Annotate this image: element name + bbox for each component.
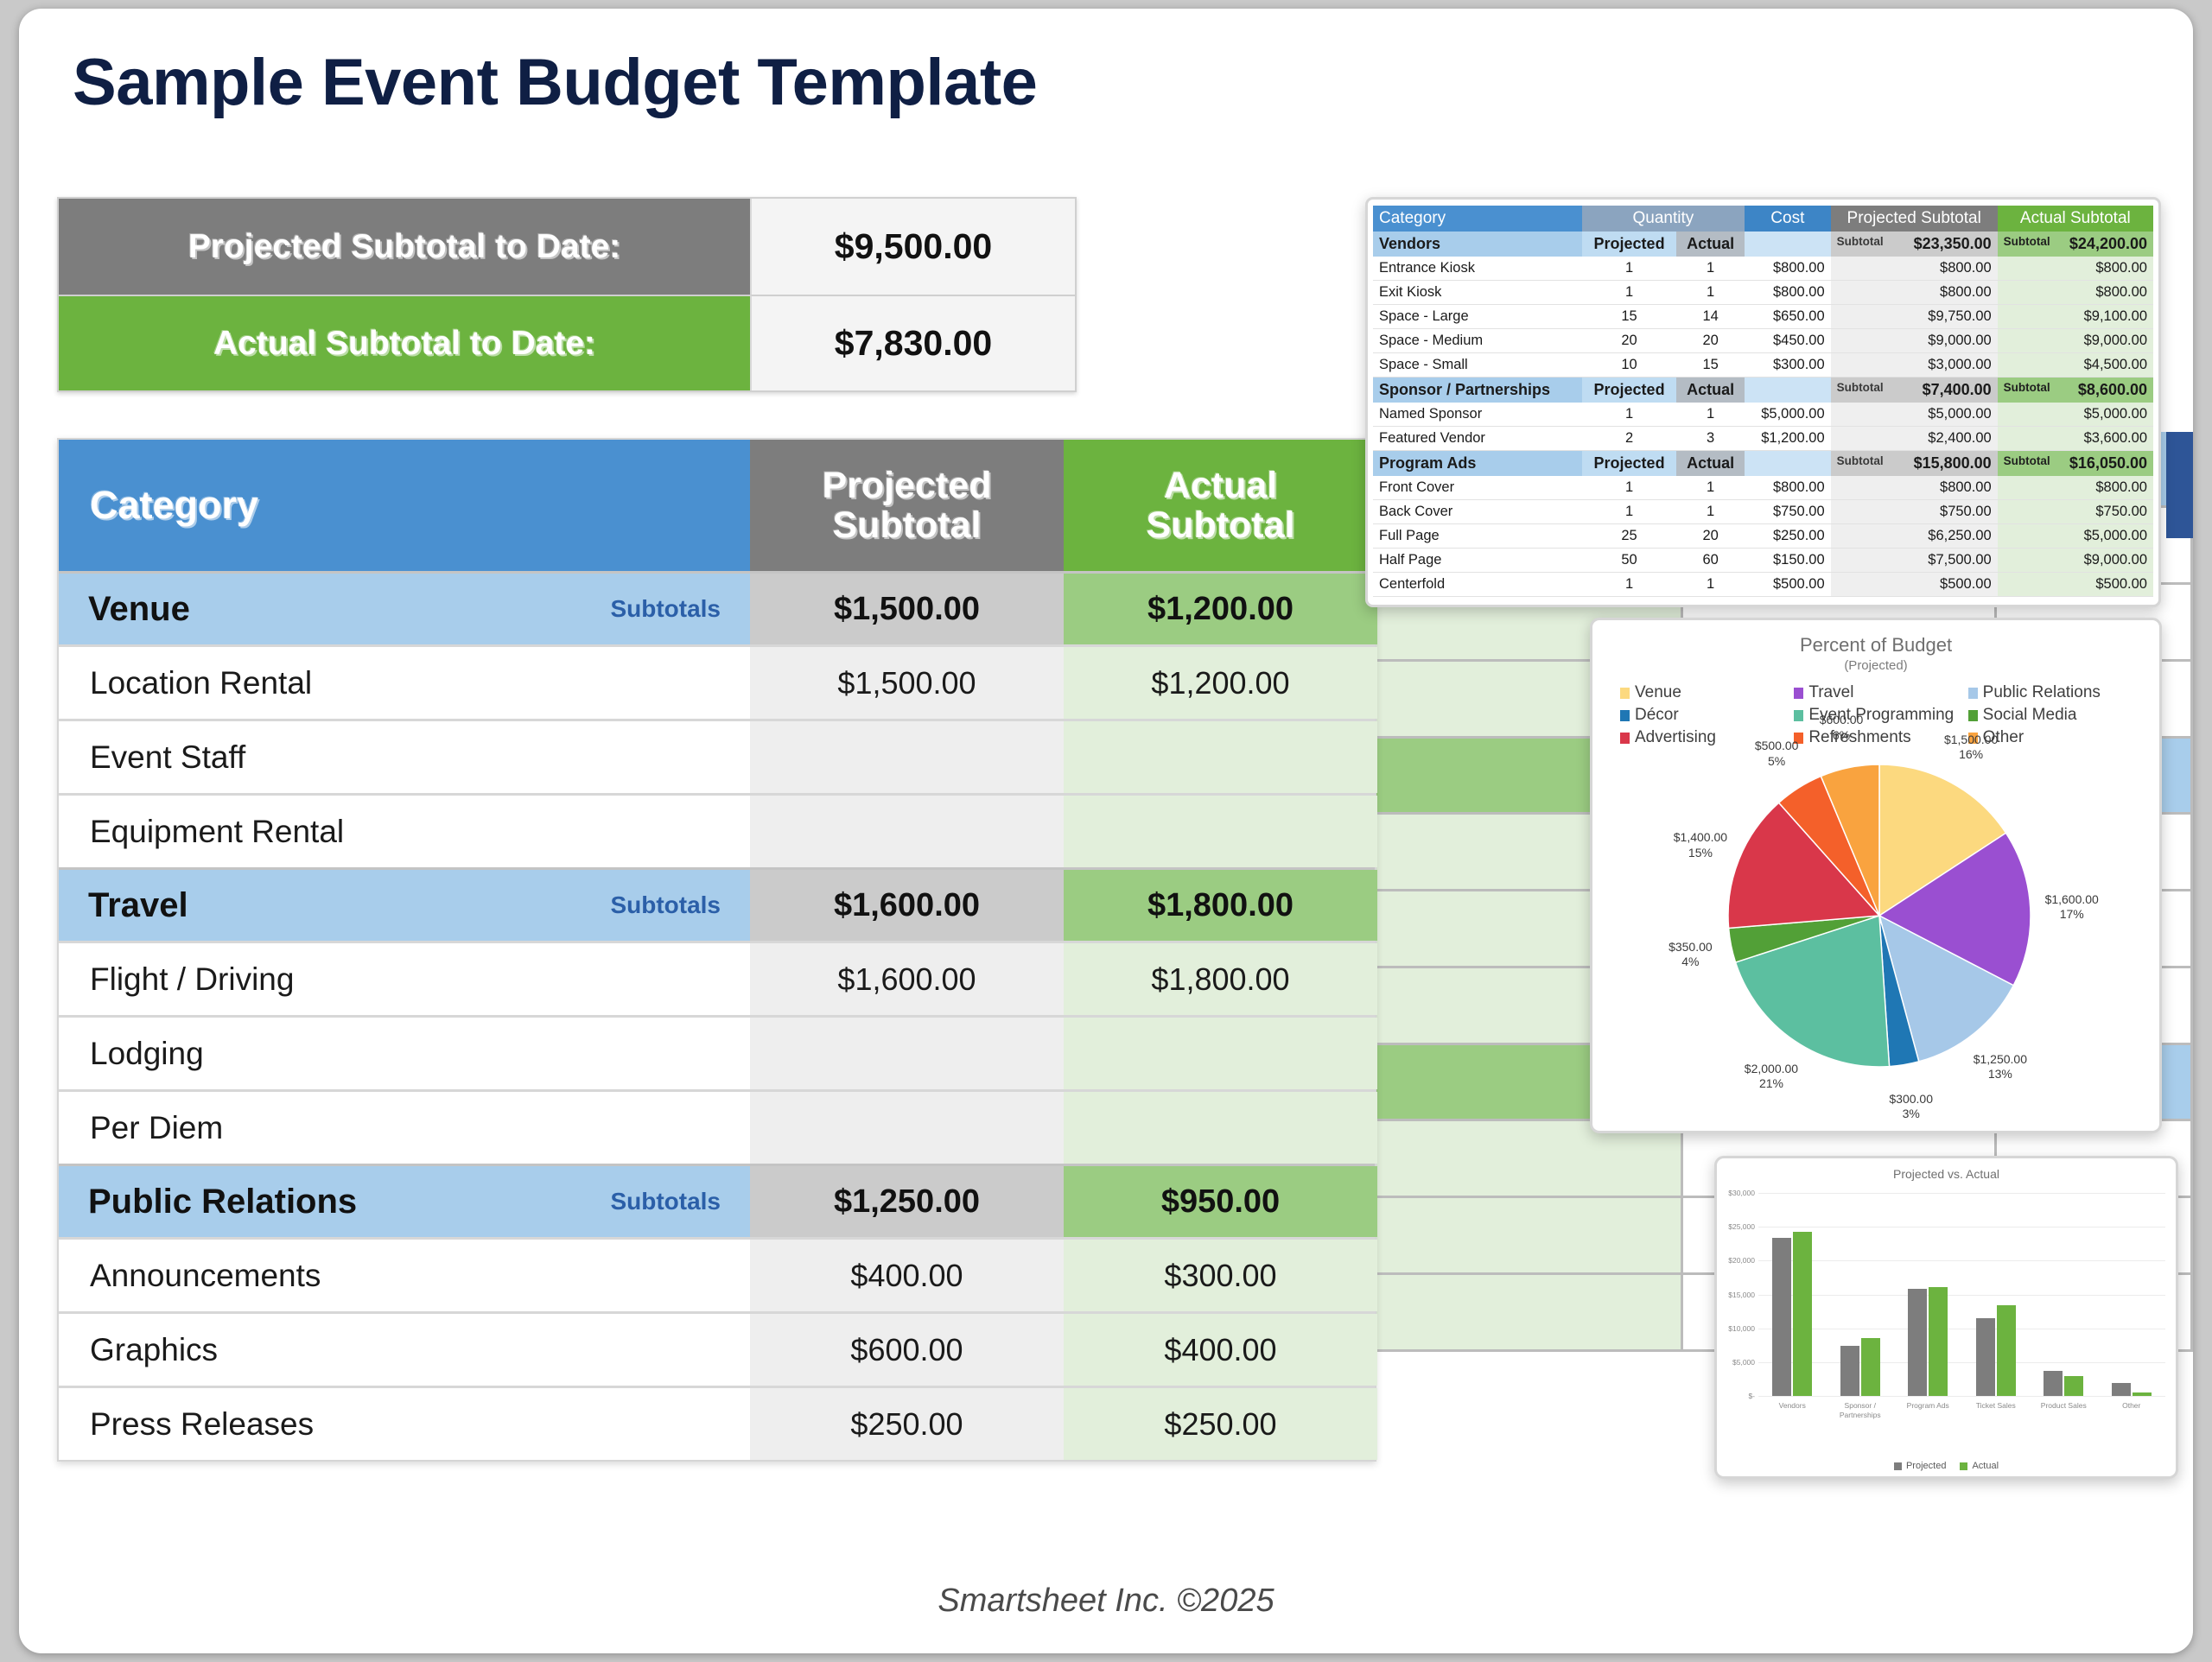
sheet-item-name: Exit Kiosk — [1373, 281, 1582, 305]
item-projected-cell — [750, 721, 1064, 793]
item-actual-value: $1,200.00 — [1151, 665, 1289, 701]
spreadsheet-item-row: Full Page2520$250.00$6,250.00$5,000.00 — [1373, 524, 2153, 549]
gridline — [1758, 1362, 2165, 1363]
pie-label-value: $1,500.00 — [1944, 733, 1998, 746]
table-row-item: Per Diem — [59, 1089, 1375, 1164]
pie-data-label: $300.003% — [1872, 1092, 1950, 1122]
sheet-header-quantity: Quantity — [1582, 206, 1745, 232]
sheet-header-category: Category — [1373, 206, 1582, 232]
sheet-cost: $650.00 — [1745, 305, 1831, 329]
item-name-cell: Lodging — [59, 1018, 750, 1089]
bar-chart-legend: ProjectedActual — [1717, 1461, 2176, 1471]
item-projected-value: $1,500.00 — [837, 665, 976, 701]
pie-label-value: $1,250.00 — [1974, 1052, 2027, 1066]
subtotal-category-name: Venue — [88, 590, 190, 629]
sheet-item-name: Back Cover — [1373, 500, 1582, 524]
sheet-actual-subtotal: $4,500.00 — [1998, 353, 2153, 377]
sheet-qty-projected: 1 — [1582, 573, 1677, 597]
item-projected-cell: $600.00 — [750, 1314, 1064, 1386]
table-row-item: Flight / Driving$1,600.00$1,800.00 — [59, 941, 1375, 1015]
spreadsheet-item-row: Space - Small1015$300.00$3,000.00$4,500.… — [1373, 353, 2153, 377]
subtotals-label: Subtotals — [610, 595, 721, 623]
item-name: Event Staff — [90, 739, 245, 776]
subtotal-actual-cell: $1,200.00 — [1064, 574, 1377, 644]
gridline — [1758, 1295, 2165, 1296]
sheet-item-name: Entrance Kiosk — [1373, 257, 1582, 281]
bar-actual — [1997, 1305, 2016, 1396]
pie-data-label: $1,500.0016% — [1932, 733, 2010, 763]
gridline — [1758, 1396, 2165, 1397]
subtotal-category-name: Public Relations — [88, 1183, 357, 1221]
item-actual-cell — [1064, 1018, 1377, 1089]
sheet-projected-subtotal: $9,000.00 — [1831, 329, 1998, 353]
bar-group — [2038, 1193, 2088, 1396]
sheet-cost: $300.00 — [1745, 353, 1831, 377]
group-actual-header: Actual — [1676, 377, 1745, 403]
sheet-qty-projected: 15 — [1582, 305, 1677, 329]
group-projected-subtotal: Subtotal$15,800.00 — [1831, 451, 1998, 477]
sheet-qty-actual: 60 — [1676, 549, 1745, 573]
group-actual-header: Actual — [1676, 451, 1745, 477]
sheet-item-name: Centerfold — [1373, 573, 1582, 597]
legend-item: Venue — [1620, 683, 1789, 702]
sheet-qty-projected: 1 — [1582, 403, 1677, 427]
group-projected-header: Projected — [1582, 232, 1677, 257]
accent-block — [2166, 432, 2193, 538]
sheet-projected-subtotal: $750.00 — [1831, 500, 1998, 524]
item-name-cell: Per Diem — [59, 1092, 750, 1164]
table-row-item: Equipment Rental — [59, 793, 1375, 867]
sheet-item-name: Full Page — [1373, 524, 1582, 549]
sheet-qty-projected: 25 — [1582, 524, 1677, 549]
subtotal-word: Subtotal — [1837, 454, 1884, 467]
item-actual-cell — [1064, 796, 1377, 867]
sheet-cost: $5,000.00 — [1745, 403, 1831, 427]
sheet-projected-subtotal: $6,250.00 — [1831, 524, 1998, 549]
item-name-cell: Equipment Rental — [59, 796, 750, 867]
pie-label-value: $1,600.00 — [2045, 892, 2099, 906]
subtotal-word: Subtotal — [2004, 381, 2050, 394]
item-name: Press Releases — [90, 1406, 314, 1443]
sheet-projected-subtotal: $2,400.00 — [1831, 427, 1998, 451]
pie-data-label: $350.004% — [1651, 940, 1729, 970]
sheet-cost: $750.00 — [1745, 500, 1831, 524]
item-projected-cell — [750, 796, 1064, 867]
pie-chart-subtitle: (Projected) — [1592, 658, 2159, 673]
summary-row-actual: Actual Subtotal to Date: $7,830.00 — [59, 295, 1075, 390]
sheet-item-name: Named Sponsor — [1373, 403, 1582, 427]
bar-actual — [1793, 1232, 1812, 1396]
sheet-qty-actual: 1 — [1676, 476, 1745, 500]
sheet-qty-projected: 2 — [1582, 427, 1677, 451]
budget-table: Category ProjectedSubtotal ActualSubtota… — [57, 438, 1376, 1462]
y-axis-tick-label: $5,000 — [1717, 1358, 1755, 1367]
subtotal-projected-value: $1,500.00 — [834, 591, 980, 628]
table-row-item: Event Staff — [59, 719, 1375, 793]
subtotal-category-cell: TravelSubtotals — [59, 870, 750, 941]
subtotal-word: Subtotal — [1837, 381, 1884, 394]
x-axis-tick-label: Other — [2097, 1401, 2166, 1411]
legend-label: Advertising — [1635, 728, 1716, 747]
sheet-projected-subtotal: $9,750.00 — [1831, 305, 1998, 329]
pie-chart-title: Percent of Budget — [1592, 634, 2159, 657]
spreadsheet-item-row: Front Cover11$800.00$800.00$800.00 — [1373, 476, 2153, 500]
pie-label-percent: 13% — [1988, 1067, 2012, 1081]
legend-label: Projected — [1906, 1461, 1946, 1471]
sheet-qty-projected: 10 — [1582, 353, 1677, 377]
detail-spreadsheet-table: Category Quantity Cost Projected Subtota… — [1373, 206, 2153, 597]
group-projected-subtotal: Subtotal$23,350.00 — [1831, 232, 1998, 257]
pie-data-label: $600.006% — [1802, 713, 1880, 743]
actual-subtotal-label: Actual Subtotal to Date: — [59, 295, 750, 390]
legend-swatch-icon — [1960, 1462, 1967, 1470]
bar-projected — [1976, 1318, 1995, 1396]
y-axis-tick-label: $15,000 — [1717, 1291, 1755, 1299]
bar-projected — [2112, 1383, 2131, 1396]
sheet-projected-subtotal: $500.00 — [1831, 573, 1998, 597]
bar-group — [2107, 1193, 2157, 1396]
sheet-qty-projected: 1 — [1582, 257, 1677, 281]
spreadsheet-group-row: Sponsor / PartnershipsProjectedActualSub… — [1373, 377, 2153, 403]
gridline — [1758, 1227, 2165, 1227]
item-actual-cell — [1064, 721, 1377, 793]
group-actual-header: Actual — [1676, 232, 1745, 257]
background-cell — [1370, 1198, 1683, 1275]
legend-item: Social Media — [1968, 706, 2137, 725]
legend-item: Travel — [1794, 683, 1962, 702]
y-axis-tick-label: $30,000 — [1717, 1189, 1755, 1197]
table-row-subtotal: TravelSubtotals$1,600.00$1,800.00 — [59, 867, 1375, 941]
item-name-cell: Press Releases — [59, 1388, 750, 1460]
y-axis-tick-label: $- — [1717, 1392, 1755, 1400]
sheet-item-name: Space - Small — [1373, 353, 1582, 377]
item-name-cell: Flight / Driving — [59, 943, 750, 1015]
sheet-actual-subtotal: $800.00 — [1998, 257, 2153, 281]
header-cell-projected: ProjectedSubtotal — [750, 440, 1064, 571]
x-axis-tick-label: Product Sales — [2029, 1401, 2098, 1411]
legend-label: Social Media — [1983, 706, 2077, 725]
sheet-cost: $500.00 — [1745, 573, 1831, 597]
pie-data-label: $1,250.0013% — [1961, 1052, 2039, 1082]
pie-label-value: $350.00 — [1669, 940, 1713, 954]
table-row-item: Graphics$600.00$400.00 — [59, 1311, 1375, 1386]
item-name-cell: Announcements — [59, 1240, 750, 1311]
bar-projected — [1908, 1289, 1927, 1396]
pie-data-label: $2,000.0021% — [1732, 1062, 1810, 1092]
sheet-actual-subtotal: $800.00 — [1998, 281, 2153, 305]
group-projected-subtotal: Subtotal$7,400.00 — [1831, 377, 1998, 403]
gridline — [1758, 1260, 2165, 1261]
page-title: Sample Event Budget Template — [73, 45, 1037, 120]
legend-swatch-icon — [1620, 733, 1630, 744]
sheet-item-name: Front Cover — [1373, 476, 1582, 500]
header-cell-actual: ActualSubtotal — [1064, 440, 1377, 571]
table-row-item: Lodging — [59, 1015, 1375, 1089]
subtotals-label: Subtotals — [610, 1188, 721, 1215]
legend-label: Public Relations — [1983, 683, 2101, 702]
item-projected-cell: $250.00 — [750, 1388, 1064, 1460]
legend-swatch-icon — [1794, 688, 1803, 699]
item-actual-value: $250.00 — [1164, 1406, 1276, 1443]
legend-swatch-icon — [1968, 688, 1978, 699]
item-name: Announcements — [90, 1258, 321, 1294]
header-label-category: Category — [90, 485, 258, 526]
spreadsheet-item-row: Named Sponsor11$5,000.00$5,000.00$5,000.… — [1373, 403, 2153, 427]
sheet-actual-subtotal: $9,100.00 — [1998, 305, 2153, 329]
spreadsheet-group-row: Program AdsProjectedActualSubtotal$15,80… — [1373, 451, 2153, 477]
legend-swatch-icon — [1968, 710, 1978, 721]
item-actual-cell: $1,200.00 — [1064, 647, 1377, 719]
subtotal-word: Subtotal — [2004, 454, 2050, 467]
spreadsheet-body: VendorsProjectedActualSubtotal$23,350.00… — [1373, 232, 2153, 597]
sheet-qty-actual: 15 — [1676, 353, 1745, 377]
item-name: Flight / Driving — [90, 961, 294, 998]
sheet-qty-actual: 1 — [1676, 500, 1745, 524]
legend-item: Décor — [1620, 706, 1789, 725]
item-projected-value: $400.00 — [850, 1258, 963, 1294]
subtotal-category-name: Travel — [88, 886, 188, 925]
group-blank-cell — [1745, 451, 1831, 477]
item-name: Graphics — [90, 1332, 218, 1368]
subtotal-projected-value: $1,600.00 — [834, 887, 980, 924]
item-projected-value: $600.00 — [850, 1332, 963, 1368]
sheet-header-projected-subtotal: Projected Subtotal — [1831, 206, 1998, 232]
pie-label-value: $2,000.00 — [1745, 1062, 1798, 1075]
sheet-projected-subtotal: $800.00 — [1831, 281, 1998, 305]
gridline — [1758, 1193, 2165, 1194]
sheet-projected-subtotal: $800.00 — [1831, 476, 1998, 500]
item-projected-value: $250.00 — [850, 1406, 963, 1443]
item-actual-cell: $250.00 — [1064, 1388, 1377, 1460]
sheet-cost: $250.00 — [1745, 524, 1831, 549]
pie-data-label: $500.005% — [1738, 739, 1815, 769]
background-cell — [1370, 1275, 1683, 1352]
sheet-cost: $450.00 — [1745, 329, 1831, 353]
bar-chart-title: Projected vs. Actual — [1717, 1167, 2176, 1181]
pie-label-value: $500.00 — [1755, 739, 1799, 752]
pie-label-percent: 6% — [1833, 728, 1850, 742]
projected-subtotal-label: Projected Subtotal to Date: — [59, 199, 750, 295]
spreadsheet-group-row: VendorsProjectedActualSubtotal$23,350.00… — [1373, 232, 2153, 257]
bar-projected — [1840, 1346, 1859, 1396]
subtotal-actual-cell: $950.00 — [1064, 1166, 1377, 1237]
group-actual-subtotal: Subtotal$24,200.00 — [1998, 232, 2153, 257]
sheet-item-name: Space - Large — [1373, 305, 1582, 329]
pie-chart-svg — [1728, 756, 2039, 1067]
item-projected-cell: $1,600.00 — [750, 943, 1064, 1015]
bar-actual — [1861, 1338, 1880, 1396]
item-name: Location Rental — [90, 665, 312, 701]
sheet-qty-projected: 50 — [1582, 549, 1677, 573]
subtotal-projected-cell: $1,600.00 — [750, 870, 1064, 941]
spreadsheet-item-row: Entrance Kiosk11$800.00$800.00$800.00 — [1373, 257, 2153, 281]
group-projected-header: Projected — [1582, 451, 1677, 477]
subtotal-projected-value: $1,250.00 — [834, 1183, 980, 1221]
sheet-cost: $800.00 — [1745, 476, 1831, 500]
sheet-projected-subtotal: $7,500.00 — [1831, 549, 1998, 573]
spreadsheet-item-row: Space - Large1514$650.00$9,750.00$9,100.… — [1373, 305, 2153, 329]
sheet-item-name: Space - Medium — [1373, 329, 1582, 353]
sheet-actual-subtotal: $750.00 — [1998, 500, 2153, 524]
bar-group — [1767, 1193, 1817, 1396]
sheet-projected-subtotal: $3,000.00 — [1831, 353, 1998, 377]
sheet-actual-subtotal: $800.00 — [1998, 476, 2153, 500]
bar-group — [1971, 1193, 2021, 1396]
header-cell-category: Category — [59, 440, 750, 571]
legend-swatch-icon — [1620, 710, 1630, 721]
spreadsheet-item-row: Space - Medium2020$450.00$9,000.00$9,000… — [1373, 329, 2153, 353]
legend-item: Public Relations — [1968, 683, 2137, 702]
table-row-subtotal: VenueSubtotals$1,500.00$1,200.00 — [59, 571, 1375, 644]
y-axis-tick-label: $20,000 — [1717, 1256, 1755, 1265]
bar-group — [1903, 1193, 1953, 1396]
x-axis-tick-label: Vendors — [1758, 1401, 1827, 1411]
bar-group — [1835, 1193, 1885, 1396]
subtotal-word: Subtotal — [1837, 235, 1884, 248]
pie-label-percent: 5% — [1768, 754, 1785, 768]
item-projected-cell — [750, 1092, 1064, 1164]
sheet-actual-subtotal: $3,600.00 — [1998, 427, 2153, 451]
sheet-qty-actual: 1 — [1676, 257, 1745, 281]
item-name: Per Diem — [90, 1110, 223, 1146]
sheet-cost: $800.00 — [1745, 281, 1831, 305]
spreadsheet-item-row: Back Cover11$750.00$750.00$750.00 — [1373, 500, 2153, 524]
pie-label-percent: 4% — [1681, 955, 1699, 968]
bar-chart-plot: $-$5,000$10,000$15,000$20,000$25,000$30,… — [1717, 1181, 2181, 1431]
spreadsheet-header-row: Category Quantity Cost Projected Subtota… — [1373, 206, 2153, 232]
subtotal-actual-value: $1,200.00 — [1147, 591, 1294, 628]
table-header-row: Category ProjectedSubtotal ActualSubtota… — [59, 440, 1375, 571]
legend-swatch-icon — [1894, 1462, 1902, 1470]
subtotal-projected-cell: $1,500.00 — [750, 574, 1064, 644]
sheet-actual-subtotal: $5,000.00 — [1998, 403, 2153, 427]
footer-copyright: Smartsheet Inc. ©2025 — [19, 1583, 2193, 1620]
group-name: Vendors — [1373, 232, 1582, 257]
x-axis-tick-label: Ticket Sales — [1961, 1401, 2031, 1411]
pie-label-percent: 17% — [2060, 907, 2084, 921]
subtotal-word: Subtotal — [2004, 235, 2050, 248]
header-label-actual: ActualSubtotal — [1147, 466, 1295, 545]
table-row-subtotal: Public RelationsSubtotals$1,250.00$950.0… — [59, 1164, 1375, 1237]
sheet-header-cost: Cost — [1745, 206, 1831, 232]
bar-actual — [1929, 1287, 1948, 1396]
item-projected-cell: $400.00 — [750, 1240, 1064, 1311]
subtotal-actual-value: $950.00 — [1161, 1183, 1280, 1221]
subtotal-actual-value: $1,800.00 — [1147, 887, 1294, 924]
y-axis-tick-label: $25,000 — [1717, 1222, 1755, 1231]
group-blank-cell — [1745, 377, 1831, 403]
pie-label-value: $600.00 — [1820, 713, 1864, 726]
x-axis-tick-label: Sponsor / Partnerships — [1826, 1401, 1895, 1419]
table-row-item: Press Releases$250.00$250.00 — [59, 1386, 1375, 1460]
spreadsheet-item-row: Centerfold11$500.00$500.00$500.00 — [1373, 573, 2153, 597]
sheet-projected-subtotal: $5,000.00 — [1831, 403, 1998, 427]
sheet-item-name: Half Page — [1373, 549, 1582, 573]
group-name: Sponsor / Partnerships — [1373, 377, 1582, 403]
pie-label-percent: 15% — [1688, 846, 1713, 860]
subtotals-label: Subtotals — [610, 891, 721, 919]
sheet-qty-actual: 1 — [1676, 573, 1745, 597]
group-projected-header: Projected — [1582, 377, 1677, 403]
summary-row-projected: Projected Subtotal to Date: $9,500.00 — [59, 199, 1075, 295]
spreadsheet-item-row: Exit Kiosk11$800.00$800.00$800.00 — [1373, 281, 2153, 305]
table-row-item: Announcements$400.00$300.00 — [59, 1237, 1375, 1311]
group-blank-cell — [1745, 232, 1831, 257]
sheet-actual-subtotal: $9,000.00 — [1998, 549, 2153, 573]
spreadsheet-item-row: Half Page5060$150.00$7,500.00$9,000.00 — [1373, 549, 2153, 573]
pie-label-percent: 3% — [1903, 1107, 1920, 1120]
bar-chart-panel: Projected vs. Actual $-$5,000$10,000$15,… — [1714, 1156, 2178, 1479]
item-actual-cell: $400.00 — [1064, 1314, 1377, 1386]
legend-label: Décor — [1635, 706, 1679, 725]
sheet-actual-subtotal: $9,000.00 — [1998, 329, 2153, 353]
pie-data-label: $1,600.0017% — [2033, 892, 2111, 923]
sheet-actual-subtotal: $5,000.00 — [1998, 524, 2153, 549]
item-projected-cell — [750, 1018, 1064, 1089]
detail-spreadsheet-panel: Category Quantity Cost Projected Subtota… — [1365, 197, 2161, 607]
gridline — [1758, 1329, 2165, 1329]
pie-label-value: $1,400.00 — [1674, 830, 1727, 844]
y-axis-tick-label: $10,000 — [1717, 1324, 1755, 1333]
bar-projected — [2044, 1371, 2063, 1396]
sheet-cost: $1,200.00 — [1745, 427, 1831, 451]
sheet-qty-projected: 1 — [1582, 500, 1677, 524]
subtotal-actual-cell: $1,800.00 — [1064, 870, 1377, 941]
sheet-item-name: Featured Vendor — [1373, 427, 1582, 451]
pie-label-percent: 21% — [1759, 1076, 1783, 1090]
sheet-cost: $150.00 — [1745, 549, 1831, 573]
item-name-cell: Event Staff — [59, 721, 750, 793]
sheet-qty-actual: 14 — [1676, 305, 1745, 329]
legend-swatch-icon — [1620, 688, 1630, 699]
x-axis-tick-label: Program Ads — [1893, 1401, 1962, 1411]
table-row-item: Location Rental$1,500.00$1,200.00 — [59, 644, 1375, 719]
pie-label-value: $300.00 — [1889, 1092, 1933, 1106]
item-actual-cell — [1064, 1092, 1377, 1164]
sheet-qty-actual: 1 — [1676, 281, 1745, 305]
bar-projected — [1772, 1238, 1791, 1396]
sheet-qty-projected: 1 — [1582, 476, 1677, 500]
sheet-qty-actual: 3 — [1676, 427, 1745, 451]
subtotal-projected-cell: $1,250.00 — [750, 1166, 1064, 1237]
summary-panel: Projected Subtotal to Date: $9,500.00 Ac… — [57, 197, 1077, 392]
group-actual-subtotal: Subtotal$8,600.00 — [1998, 377, 2153, 403]
spreadsheet-item-row: Featured Vendor23$1,200.00$2,400.00$3,60… — [1373, 427, 2153, 451]
bar-actual — [2133, 1392, 2152, 1396]
budget-table-body: VenueSubtotals$1,500.00$1,200.00Location… — [59, 571, 1375, 1460]
group-actual-subtotal: Subtotal$16,050.00 — [1998, 451, 2153, 477]
group-name: Program Ads — [1373, 451, 1582, 477]
sheet-qty-projected: 1 — [1582, 281, 1677, 305]
legend-label: Venue — [1635, 683, 1681, 702]
legend-label: Travel — [1808, 683, 1853, 702]
sheet-projected-subtotal: $800.00 — [1831, 257, 1998, 281]
sheet-qty-actual: 20 — [1676, 329, 1745, 353]
item-actual-value: $1,800.00 — [1151, 961, 1289, 998]
item-projected-cell: $1,500.00 — [750, 647, 1064, 719]
pie-chart-panel: Percent of Budget (Projected) VenueTrave… — [1590, 618, 2162, 1133]
item-actual-cell: $300.00 — [1064, 1240, 1377, 1311]
bar-legend-item: Projected — [1894, 1461, 1946, 1471]
subtotal-category-cell: VenueSubtotals — [59, 574, 750, 644]
sheet-header-actual-subtotal: Actual Subtotal — [1998, 206, 2153, 232]
pie-chart-plot: $1,500.0016%$1,600.0017%$1,250.0013%$300… — [1592, 747, 2164, 1119]
sheet-qty-actual: 1 — [1676, 403, 1745, 427]
subtotal-category-cell: Public RelationsSubtotals — [59, 1166, 750, 1237]
item-actual-cell: $1,800.00 — [1064, 943, 1377, 1015]
sheet-actual-subtotal: $500.00 — [1998, 573, 2153, 597]
item-name-cell: Graphics — [59, 1314, 750, 1386]
